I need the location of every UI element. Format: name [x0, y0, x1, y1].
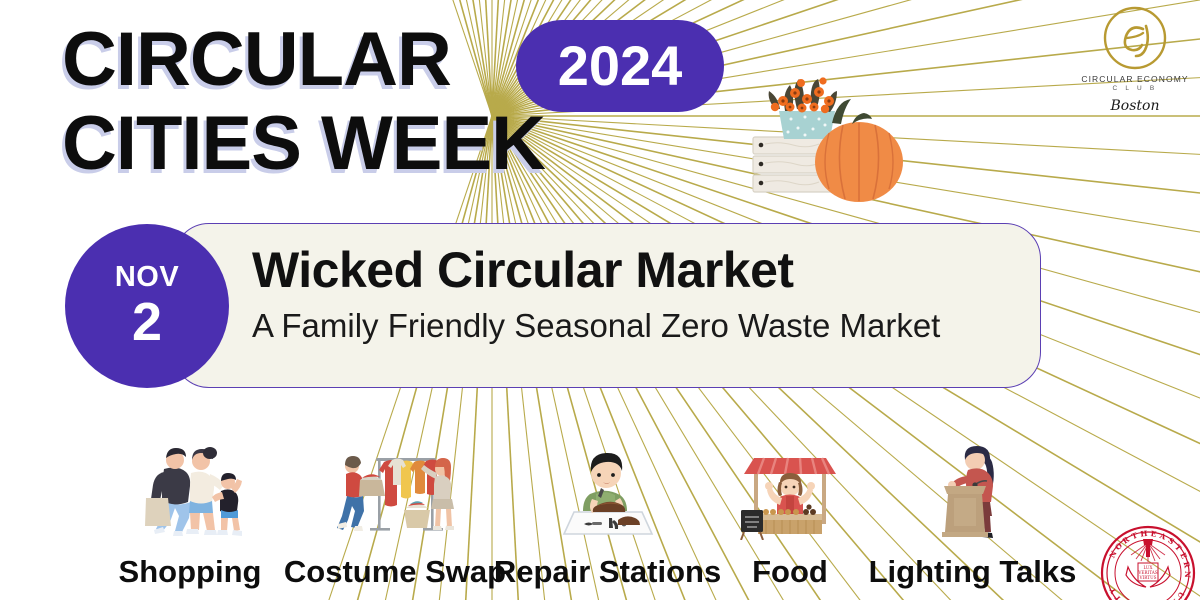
stall-awning — [744, 458, 836, 474]
year-badge: 2024 — [516, 20, 724, 112]
person-carrying-basket — [337, 456, 385, 531]
date-day: 2 — [132, 294, 162, 350]
feature-label: Lighting Talks — [869, 554, 1077, 590]
podium — [942, 486, 988, 537]
title-line-2: CITIES WEEK — [62, 102, 545, 186]
svg-text:Y: Y — [1107, 586, 1118, 596]
chalkboard-sign — [741, 510, 763, 540]
northeastern-university-seal: LUX VERITAS VIRTUS N O R T H E A S T E R… — [1098, 523, 1198, 600]
feature-label: Repair Stations — [494, 554, 721, 590]
feature-costume-swap: Costume Swap — [290, 434, 500, 590]
repair-person — [583, 453, 627, 513]
svg-text:E: E — [1178, 551, 1189, 560]
features-row: Shopping — [90, 420, 1080, 590]
title-line-1: CIRCULAR — [62, 18, 545, 102]
man-figure — [145, 448, 191, 536]
laundry-basket — [404, 501, 430, 528]
feature-shopping: Shopping — [90, 434, 290, 590]
year-badge-label: 2024 — [558, 38, 683, 94]
feature-label: Costume Swap — [284, 554, 506, 590]
market-stall-icon — [738, 434, 842, 540]
svg-text:R: R — [1182, 561, 1192, 570]
svg-text:N: N — [1183, 571, 1192, 578]
feature-label: Shopping — [119, 554, 262, 590]
feature-repair-stations: Repair Stations — [500, 434, 715, 590]
feature-label: Food — [752, 554, 828, 590]
feature-food: Food — [715, 434, 865, 590]
ce-monogram-icon — [1101, 4, 1169, 72]
date-month: NOV — [115, 262, 179, 292]
pumpkin-flowers-crate-illustration — [735, 45, 910, 215]
svg-text:E: E — [1150, 529, 1157, 539]
family-shopping-icon — [134, 434, 246, 540]
woman-figure — [186, 447, 224, 535]
logo-subname: C L U B — [1072, 85, 1198, 92]
event-poster: CIRCULAR CITIES WEEK 2024 — [0, 0, 1200, 600]
podium-speaker-icon — [930, 434, 1016, 540]
feature-lighting-talks: Lighting Talks — [865, 434, 1080, 590]
event-subtitle: A Family Friendly Seasonal Zero Waste Ma… — [252, 304, 1012, 348]
clothing-rack-icon — [330, 434, 460, 540]
logo-city: Boston — [1072, 98, 1198, 114]
event-title: Wicked Circular Market — [252, 240, 1012, 300]
shoe-repair-icon — [552, 434, 664, 540]
circular-economy-club-logo: CIRCULAR ECONOMY C L U B Boston — [1072, 4, 1198, 128]
logo-name: CIRCULAR ECONOMY — [1072, 74, 1198, 84]
svg-text:A: A — [1157, 531, 1167, 542]
svg-text:H: H — [1140, 529, 1148, 539]
svg-text:T: T — [1130, 531, 1139, 542]
event-card-text: Wicked Circular Market A Family Friendly… — [252, 240, 1012, 348]
flower-pot-icon — [779, 111, 835, 139]
event-date-badge: NOV 2 — [65, 224, 229, 388]
svg-text:VIRTUS: VIRTUS — [1139, 575, 1157, 580]
poster-title: CIRCULAR CITIES WEEK — [62, 18, 545, 186]
